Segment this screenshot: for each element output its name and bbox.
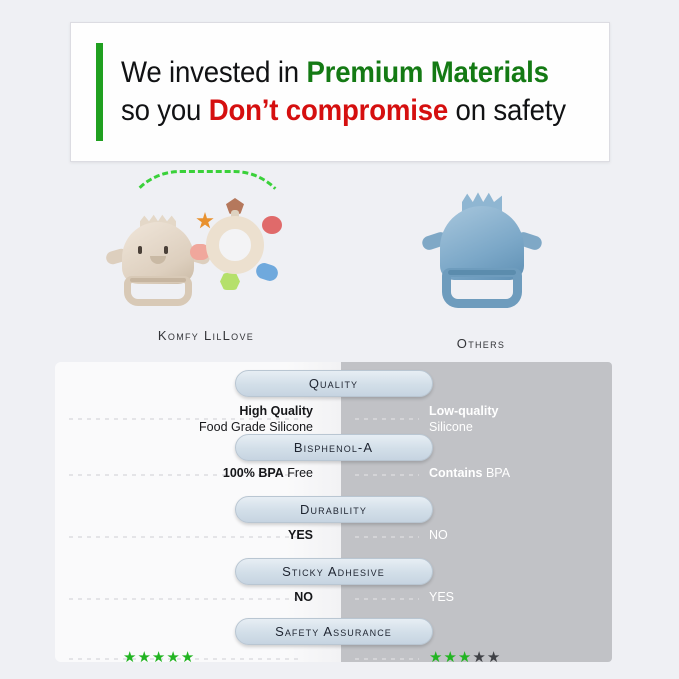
cell-right-bold: Contains [429, 466, 482, 480]
feature-pill-quality: Quality [235, 370, 433, 397]
feature-pill-durability: Durability [235, 496, 433, 523]
feature-pill-bisphenol-a: Bisphenol-A [235, 434, 433, 461]
star-empty-icon: ★ [487, 649, 501, 666]
blue-mitten-teether-icon [428, 190, 536, 312]
table-row: Quality High Quality Food Grade Silicone… [55, 370, 612, 430]
headline-line-2-tail: on safety [448, 94, 566, 127]
cell-left-quality: High Quality Food Grade Silicone [55, 404, 313, 435]
product-showcase: Komfy LilLove Others [0, 168, 679, 360]
cell-right-regular: NO [429, 528, 448, 542]
comparison-table: Quality High Quality Food Grade Silicone… [55, 362, 612, 662]
star-filled-icon: ★ [181, 649, 195, 666]
table-row: Sticky Adhesive NO YES [55, 558, 612, 618]
product-label-others: Others [386, 336, 576, 351]
star-filled-icon: ★ [429, 649, 443, 666]
headline-line-1: We invested in Premium Materials [121, 54, 566, 92]
table-row: Bisphenol-A 100% BPA Free Contains BPA [55, 434, 612, 494]
star-filled-icon: ★ [137, 649, 151, 666]
star-filled-icon: ★ [123, 649, 137, 666]
row-dots-right [355, 658, 419, 660]
product-label-komfy-lillove: Komfy LilLove [88, 328, 324, 343]
headline-line-1-plain: We invested in [121, 56, 306, 89]
table-row: Safety Assurance ★★★★★ ★★★★★ [55, 618, 612, 678]
cell-right-bold: Low-quality [429, 404, 498, 418]
mitten-eye-left [138, 246, 142, 254]
row-dots-right [355, 474, 419, 476]
cell-left-sticky: NO [55, 590, 313, 606]
feature-label: Safety Assurance [275, 624, 392, 639]
mitten-body [122, 222, 194, 284]
headline-card: We invested in Premium Materials so you … [70, 22, 610, 162]
ring-rattle-toy-icon [190, 198, 282, 290]
cell-right-durability: NO [429, 528, 609, 544]
rattle-bead-bottom [220, 273, 240, 290]
cell-left-regular: Free [284, 466, 313, 480]
cell-right-sticky: YES [429, 590, 609, 606]
product-others: Others [386, 176, 576, 351]
headline-line-2: so you Don’t compromise on safety [121, 92, 566, 130]
feature-label: Quality [309, 376, 358, 391]
cell-right-quality: Low-quality Silicone [429, 404, 609, 435]
star-filled-icon: ★ [458, 649, 472, 666]
cell-right-regular: Silicone [429, 420, 473, 434]
headline-highlight-dont-compromise: Don’t compromise [209, 94, 448, 127]
cream-mitten-teether-icon [114, 214, 202, 308]
cell-right-regular: YES [429, 590, 454, 604]
cell-left-bold: NO [294, 590, 313, 604]
headline-line-2-plain: so you [121, 94, 209, 127]
row-dots-right [355, 598, 419, 600]
feature-label: Bisphenol-A [294, 440, 373, 455]
row-dots-right [355, 418, 419, 420]
green-accent-bar [96, 43, 103, 141]
star-filled-icon: ★ [443, 649, 457, 666]
cell-left-bpa: 100% BPA Free [55, 466, 313, 482]
product-image-others [386, 176, 576, 334]
feature-pill-safety-assurance: Safety Assurance [235, 618, 433, 645]
cell-left-regular: Food Grade Silicone [199, 420, 313, 434]
rattle-bead-top-right [262, 216, 282, 234]
table-row: Durability YES NO [55, 496, 612, 556]
comparison-rows: Quality High Quality Food Grade Silicone… [55, 362, 612, 662]
rattle-bead-bottom-right [254, 261, 280, 283]
feature-label: Sticky Adhesive [282, 564, 385, 579]
blue-mitten-bar [448, 270, 516, 275]
product-image-komfy-lillove [88, 168, 324, 326]
headline-highlight-premium-materials: Premium Materials [306, 56, 548, 89]
product-komfy-lillove: Komfy LilLove [88, 168, 324, 343]
star-rating-komfy: ★★★★★ [123, 648, 195, 666]
star-empty-icon: ★ [472, 649, 486, 666]
cell-left-bold: 100% BPA [223, 466, 284, 480]
rattle-ring [206, 216, 264, 274]
cell-right-regular: BPA [482, 466, 510, 480]
cell-left-durability: YES [55, 528, 313, 544]
feature-label: Durability [300, 502, 367, 517]
cell-right-bpa: Contains BPA [429, 466, 609, 482]
mitten-bar [130, 278, 186, 282]
headline-text: We invested in Premium Materials so you … [121, 54, 605, 131]
star-filled-icon: ★ [152, 649, 166, 666]
row-dots-right [355, 536, 419, 538]
feature-pill-sticky-adhesive: Sticky Adhesive [235, 558, 433, 585]
star-filled-icon: ★ [166, 649, 180, 666]
star-rating-others: ★★★★★ [429, 648, 501, 666]
cell-left-bold: High Quality [239, 404, 313, 418]
cell-left-bold: YES [288, 528, 313, 542]
mitten-eye-right [164, 246, 168, 254]
